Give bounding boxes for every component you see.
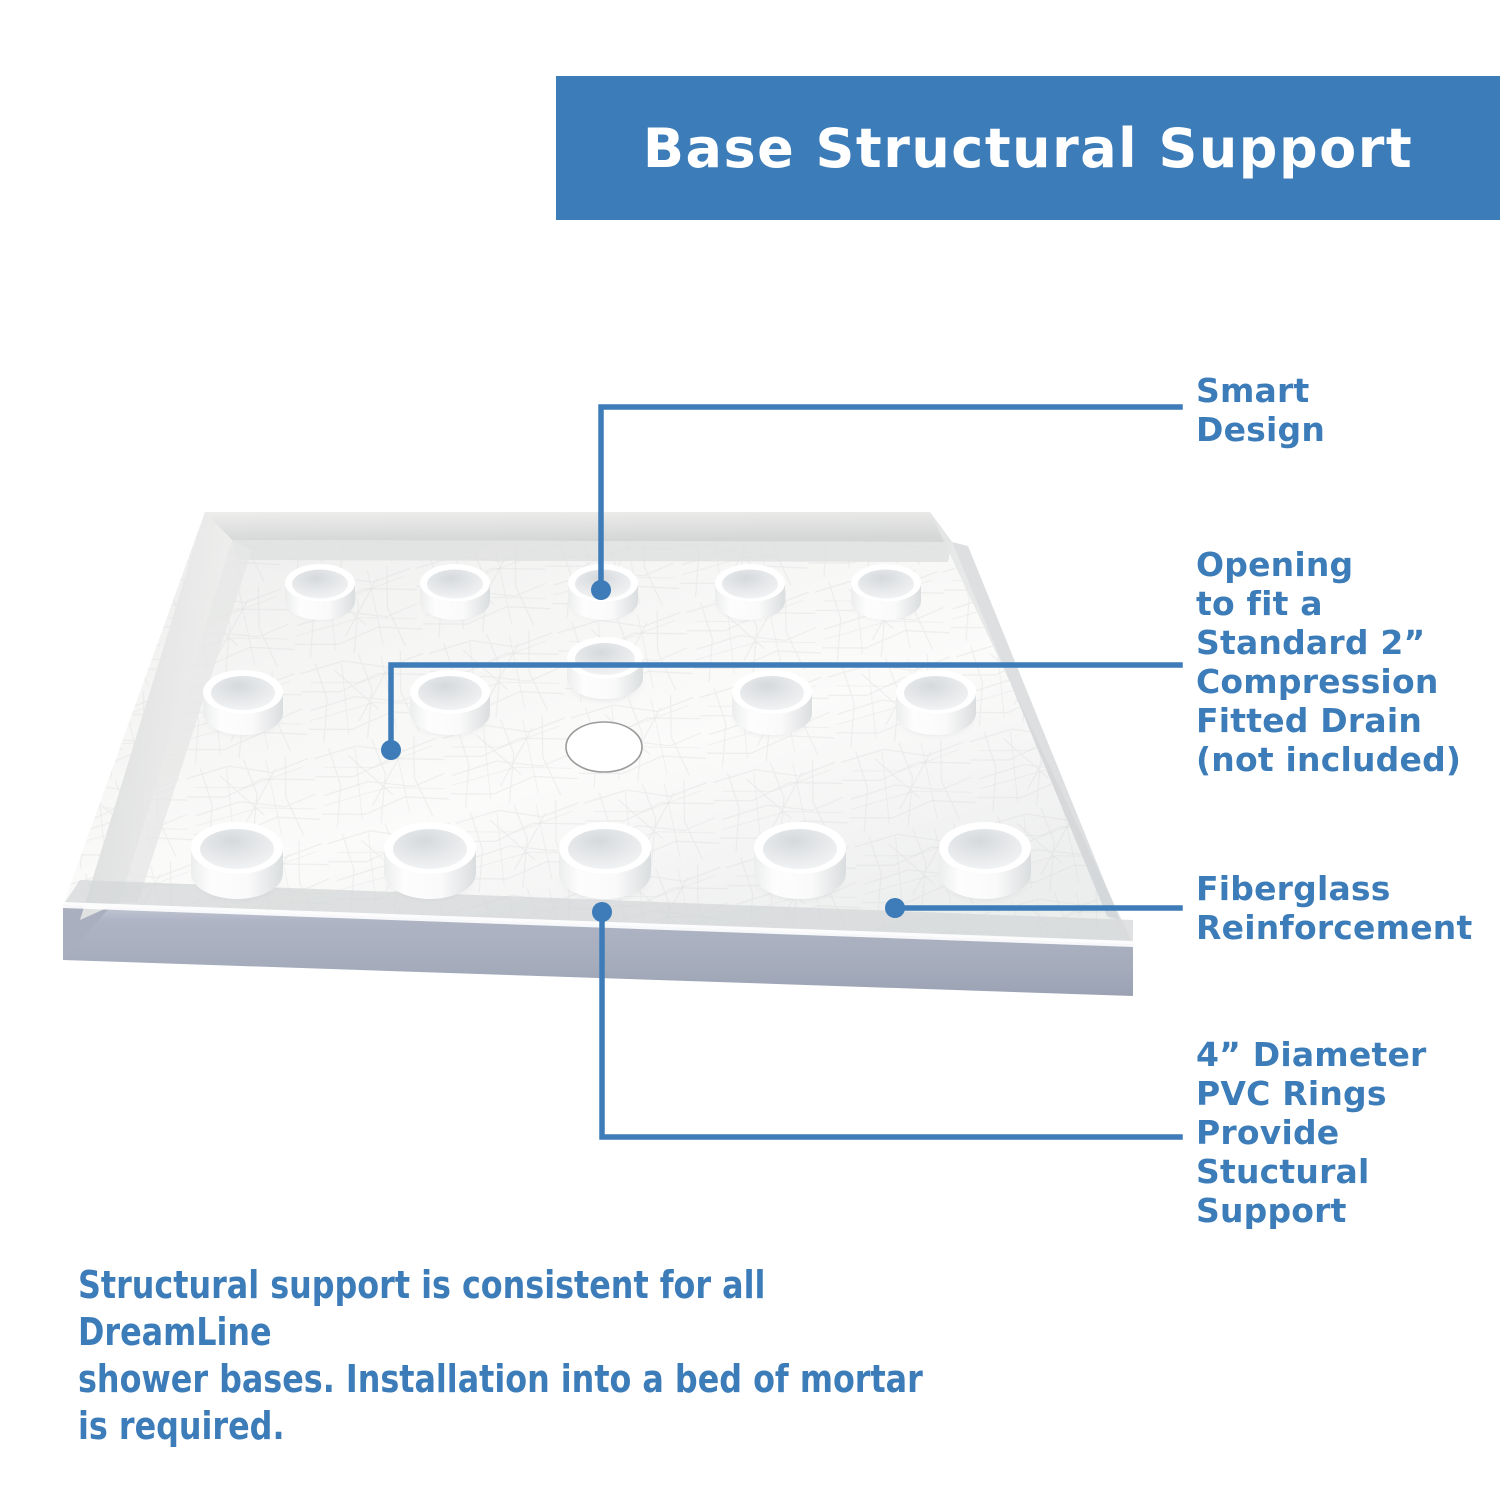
leader-dot-fiberglass	[885, 898, 905, 918]
leader-line-pvc-rings	[602, 913, 1180, 1137]
leader-line-smart-design	[601, 407, 1180, 588]
footer-note: Structural support is consistent for all…	[78, 1262, 962, 1450]
leader-line-drain-opening	[391, 665, 1180, 748]
leader-dot-smart-design	[591, 580, 611, 600]
leader-dot-drain-opening	[381, 740, 401, 760]
callout-label-smart-design: Smart Design	[1196, 371, 1496, 449]
callout-label-drain-opening: Opening to fit a Standard 2” Compression…	[1196, 545, 1500, 779]
callout-label-pvc-rings: 4” Diameter PVC Rings Provide Stuctural …	[1196, 1035, 1496, 1230]
callout-label-fiberglass: Fiberglass Reinforcement	[1196, 869, 1496, 947]
leader-dot-pvc-rings	[592, 902, 612, 922]
